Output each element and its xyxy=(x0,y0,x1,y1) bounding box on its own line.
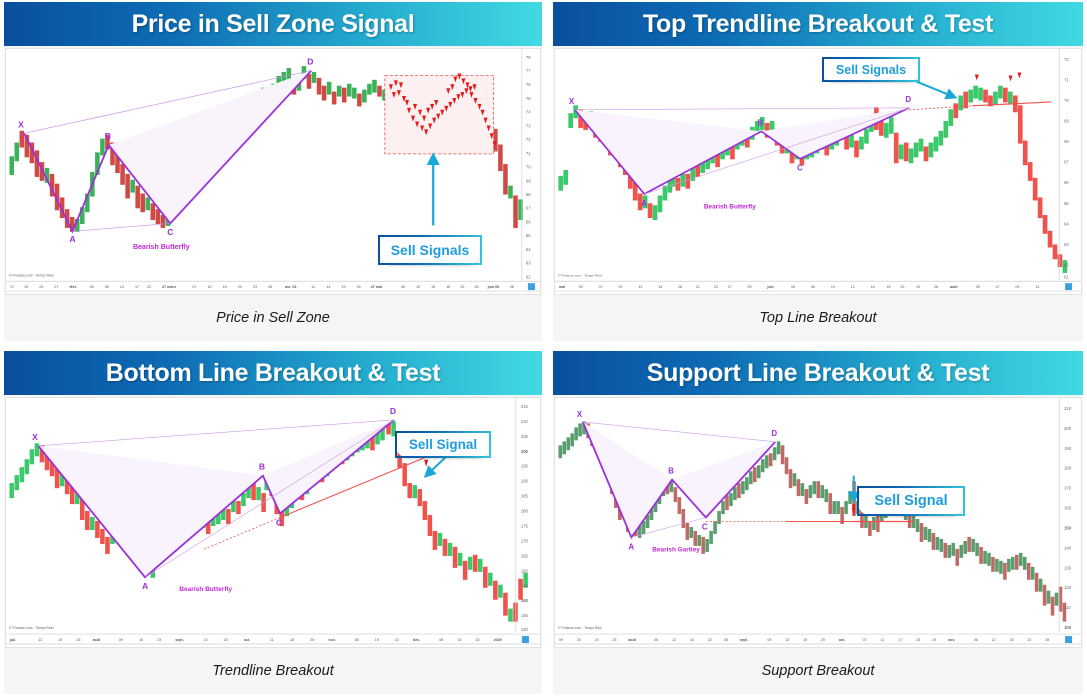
svg-text:09: 09 xyxy=(767,638,771,642)
svg-text:160: 160 xyxy=(1064,506,1072,511)
svg-text:195: 195 xyxy=(521,464,529,469)
svg-text:64: 64 xyxy=(526,247,531,252)
svg-text:20: 20 xyxy=(476,638,480,642)
svg-text:180: 180 xyxy=(1064,466,1072,471)
svg-text:24: 24 xyxy=(357,285,361,289)
point-a-label-3: A xyxy=(142,581,148,591)
svg-text:69: 69 xyxy=(1064,119,1069,124)
svg-text:200: 200 xyxy=(521,449,529,454)
attribution-4: IT-Finance.com - Temps Réel xyxy=(558,626,602,630)
svg-text:08: 08 xyxy=(105,285,109,289)
pattern-label-2: Bearish Butterfly xyxy=(704,204,756,211)
pattern-label-3: Bearish Butterfly xyxy=(179,586,232,593)
svg-text:210: 210 xyxy=(1064,406,1072,411)
svg-text:oct.: oct. xyxy=(839,638,845,642)
svg-text:19: 19 xyxy=(24,285,28,289)
panel-caption-3: Trendline Breakout xyxy=(4,648,542,694)
svg-text:déc.: déc. xyxy=(413,638,420,642)
point-a-label-1: A xyxy=(69,234,75,244)
svg-text:74: 74 xyxy=(526,110,531,115)
svg-text:11: 11 xyxy=(881,638,885,642)
svg-text:19: 19 xyxy=(803,638,807,642)
attribution-2: IT-Finance.com - Temps Réel xyxy=(558,273,602,277)
svg-text:18: 18 xyxy=(678,285,682,289)
svg-text:05: 05 xyxy=(401,285,405,289)
x-axis-4: 09151925 août0612 162228 sept.0913 1925o… xyxy=(555,634,1081,644)
point-c-label-3: C xyxy=(276,518,282,528)
svg-text:07: 07 xyxy=(599,285,603,289)
svg-text:05: 05 xyxy=(90,285,94,289)
svg-text:07: 07 xyxy=(996,285,1000,289)
svg-text:19: 19 xyxy=(595,638,599,642)
point-d-label-4: D xyxy=(771,429,777,438)
chart-svg-2: X A B C D Bearish Butterfly xyxy=(555,49,1081,294)
sell-signal-callout-3[interactable]: Sell Signal xyxy=(395,431,491,458)
sell-signal-arrows-2 xyxy=(975,73,1022,82)
svg-text:16: 16 xyxy=(139,638,143,642)
svg-text:170: 170 xyxy=(1064,486,1072,491)
svg-text:08: 08 xyxy=(355,638,359,642)
panel-title-3: Bottom Line Breakout & Test xyxy=(4,351,542,395)
point-c-label-1: C xyxy=(167,227,173,237)
svg-text:26: 26 xyxy=(934,285,938,289)
svg-text:23: 23 xyxy=(460,285,464,289)
panel-caption-1: Price in Sell Zone xyxy=(4,295,542,341)
chart-top-trendline-breakout[interactable]: X A B C D Bearish Butterfly xyxy=(554,48,1082,295)
axis-marker-3[interactable] xyxy=(522,636,529,643)
svg-text:68: 68 xyxy=(526,192,531,197)
point-x-label-3: X xyxy=(32,432,38,442)
panel-title-1: Price in Sell Zone Signal xyxy=(4,2,542,46)
svg-text:72: 72 xyxy=(1064,57,1069,62)
svg-text:août: août xyxy=(93,638,101,642)
svg-text:62: 62 xyxy=(1064,263,1069,268)
svg-text:2025: 2025 xyxy=(494,638,502,642)
svg-text:09: 09 xyxy=(119,638,123,642)
svg-text:165: 165 xyxy=(521,553,529,558)
svg-text:215: 215 xyxy=(521,404,529,409)
svg-text:140: 140 xyxy=(1064,545,1072,550)
svg-text:18: 18 xyxy=(290,638,294,642)
svg-text:76: 76 xyxy=(526,82,531,87)
svg-text:12: 12 xyxy=(851,285,855,289)
svg-text:70: 70 xyxy=(1064,98,1069,103)
svg-text:10: 10 xyxy=(208,285,212,289)
panel-top-trendline-breakout: Top Trendline Breakout & Test xyxy=(553,2,1083,341)
x-axis-3: juil.1219 26août09 1623sept. 1320oct. 11… xyxy=(6,634,540,644)
svg-text:120: 120 xyxy=(1064,585,1072,590)
y-axis-2: 727170 696867 666564 636261 xyxy=(1059,49,1069,280)
svg-text:juin: juin xyxy=(766,285,773,289)
svg-text:75: 75 xyxy=(526,96,531,101)
svg-text:20: 20 xyxy=(238,285,242,289)
svg-text:06: 06 xyxy=(974,638,978,642)
svg-text:22: 22 xyxy=(708,638,712,642)
svg-text:06: 06 xyxy=(811,285,815,289)
chart-price-in-sell-zone[interactable]: X A B C D Bearish Butterfly xyxy=(5,48,541,295)
svg-text:14: 14 xyxy=(326,285,330,289)
panel-grid: Price in Sell Zone Signal xyxy=(0,0,1087,698)
svg-text:sept.: sept. xyxy=(175,638,183,642)
svg-text:28: 28 xyxy=(724,638,728,642)
svg-text:mai: mai xyxy=(559,285,565,289)
svg-text:11: 11 xyxy=(311,285,315,289)
svg-text:16: 16 xyxy=(690,638,694,642)
svg-text:130: 130 xyxy=(1064,565,1072,570)
point-b-label-4: B xyxy=(668,467,674,476)
svg-text:66: 66 xyxy=(526,219,531,224)
svg-text:13: 13 xyxy=(638,285,642,289)
svg-text:200: 200 xyxy=(1064,426,1072,431)
svg-text:16: 16 xyxy=(871,285,875,289)
svg-text:22: 22 xyxy=(1027,638,1031,642)
svg-text:65: 65 xyxy=(526,233,531,238)
point-b-label-1: B xyxy=(105,131,111,141)
svg-text:22: 22 xyxy=(395,638,399,642)
svg-text:27 mai: 27 mai xyxy=(371,285,382,289)
svg-text:nov.: nov. xyxy=(948,638,955,642)
svg-text:210: 210 xyxy=(521,419,529,424)
svg-text:69: 69 xyxy=(526,178,531,183)
panel-title-4: Support Line Breakout & Test xyxy=(553,351,1083,395)
point-d-label-3: D xyxy=(390,406,396,416)
svg-text:67: 67 xyxy=(1064,160,1069,165)
svg-text:17: 17 xyxy=(135,285,139,289)
svg-text:13: 13 xyxy=(203,638,207,642)
y-axis-1: 787776 757473 727170 696867 666564 6362 xyxy=(522,49,531,280)
svg-text:71: 71 xyxy=(1064,77,1069,82)
svg-text:190: 190 xyxy=(1064,446,1072,451)
axis-marker-2[interactable] xyxy=(1065,283,1072,290)
svg-text:70: 70 xyxy=(526,165,531,170)
point-x-label-4: X xyxy=(577,410,583,419)
attribution-3: IT-Finance.com - Temps Réel xyxy=(9,626,54,630)
callout-label-3: Sell Signal xyxy=(409,437,477,452)
svg-text:15: 15 xyxy=(577,638,581,642)
svg-text:13: 13 xyxy=(457,638,461,642)
svg-text:12: 12 xyxy=(38,638,42,642)
svg-text:18: 18 xyxy=(886,285,890,289)
svg-text:29: 29 xyxy=(748,285,752,289)
svg-text:15: 15 xyxy=(658,285,662,289)
point-a-label-4: A xyxy=(628,542,634,551)
sell-signals-callout-2[interactable]: Sell Signals xyxy=(822,57,920,82)
svg-text:août: août xyxy=(628,638,636,642)
svg-text:27: 27 xyxy=(54,285,58,289)
svg-text:29: 29 xyxy=(932,638,936,642)
pattern-label-4: Bearish Gartley xyxy=(652,546,700,553)
sell-signal-callout-4[interactable]: Sell Signal xyxy=(857,486,965,516)
point-d-label-1: D xyxy=(307,57,313,67)
svg-text:06: 06 xyxy=(439,638,443,642)
svg-text:20: 20 xyxy=(900,285,904,289)
svg-text:190: 190 xyxy=(521,479,529,484)
svg-text:10: 10 xyxy=(831,285,835,289)
svg-text:140: 140 xyxy=(521,627,529,632)
svg-text:68: 68 xyxy=(1064,139,1069,144)
svg-text:160: 160 xyxy=(521,568,529,573)
panel-caption-4: Support Breakout xyxy=(553,648,1083,694)
svg-text:11: 11 xyxy=(270,638,274,642)
svg-text:27: 27 xyxy=(728,285,732,289)
svg-text:06: 06 xyxy=(654,638,658,642)
chart-bottom-line-breakout[interactable]: X A B C D Bearish Butterfly xyxy=(5,397,541,648)
svg-text:10: 10 xyxy=(416,285,420,289)
svg-text:25: 25 xyxy=(310,638,314,642)
svg-text:14: 14 xyxy=(120,285,124,289)
svg-text:12: 12 xyxy=(992,638,996,642)
x-axis-2: mai0307 091315 182123 2729juin 040610 12… xyxy=(555,281,1081,291)
svg-text:15: 15 xyxy=(431,285,435,289)
svg-text:23: 23 xyxy=(916,638,920,642)
panel-title-2: Top Trendline Breakout & Test xyxy=(553,2,1083,46)
harmonic-pattern-3: X A B C D Bearish Butterfly xyxy=(32,406,396,593)
axis-marker-1[interactable] xyxy=(528,283,535,290)
point-c-label-4: C xyxy=(702,522,708,531)
svg-text:12: 12 xyxy=(672,638,676,642)
svg-text:09: 09 xyxy=(559,638,563,642)
svg-text:78: 78 xyxy=(526,55,531,60)
svg-text:13: 13 xyxy=(785,638,789,642)
svg-text:18: 18 xyxy=(446,285,450,289)
svg-text:24: 24 xyxy=(916,285,920,289)
svg-text:21: 21 xyxy=(696,285,700,289)
sell-signals-callout-1[interactable]: Sell Signals xyxy=(378,235,482,265)
svg-text:67: 67 xyxy=(526,206,531,211)
svg-text:04: 04 xyxy=(791,285,795,289)
svg-text:09: 09 xyxy=(619,285,623,289)
svg-text:185: 185 xyxy=(521,494,529,499)
point-a-label-2: A xyxy=(641,199,647,208)
svg-text:juin 05: juin 05 xyxy=(487,285,499,289)
svg-text:145: 145 xyxy=(521,613,529,618)
svg-text:26: 26 xyxy=(268,285,272,289)
panel-caption-2: Top Line Breakout xyxy=(553,295,1083,341)
svg-text:20: 20 xyxy=(224,638,228,642)
svg-text:27 mars: 27 mars xyxy=(162,285,176,289)
svg-text:08: 08 xyxy=(510,285,514,289)
svg-text:07: 07 xyxy=(192,285,196,289)
point-d-label-2: D xyxy=(905,95,911,104)
svg-text:15: 15 xyxy=(375,638,379,642)
svg-text:05: 05 xyxy=(976,285,980,289)
svg-text:15: 15 xyxy=(223,285,227,289)
attribution-1: IT-Finance.com - Temps Réel xyxy=(9,273,54,277)
svg-text:23: 23 xyxy=(157,638,161,642)
svg-text:26: 26 xyxy=(77,638,81,642)
point-b-label-2: B xyxy=(757,118,763,127)
x-axis-1: 17192427 févr.0508 141722 27 mars0710 15… xyxy=(6,281,540,291)
svg-text:03: 03 xyxy=(579,285,583,289)
callout-label-2: Sell Signals xyxy=(836,63,906,77)
svg-text:73: 73 xyxy=(526,123,531,128)
svg-text:64: 64 xyxy=(1064,221,1069,226)
svg-text:71: 71 xyxy=(526,151,531,156)
svg-text:oct.: oct. xyxy=(244,638,250,642)
svg-text:avr. 03: avr. 03 xyxy=(285,285,296,289)
svg-text:23: 23 xyxy=(253,285,257,289)
svg-text:205: 205 xyxy=(521,434,529,439)
y-axis-3: 215210205 200195190 185180175 170165160 … xyxy=(516,398,529,633)
point-x-label-2: X xyxy=(569,97,575,106)
sell-signal-arrows-3 xyxy=(424,460,428,467)
svg-text:17: 17 xyxy=(898,638,902,642)
svg-text:77: 77 xyxy=(526,69,531,74)
svg-text:150: 150 xyxy=(1064,525,1072,530)
callout-label-1: Sell Signals xyxy=(391,242,470,258)
svg-text:28: 28 xyxy=(1045,638,1049,642)
svg-text:17: 17 xyxy=(10,285,14,289)
svg-text:63: 63 xyxy=(1064,242,1069,247)
svg-text:juil.: juil. xyxy=(9,638,16,642)
svg-text:févr.: févr. xyxy=(69,285,76,289)
svg-text:18: 18 xyxy=(1010,638,1014,642)
point-c-label-2: C xyxy=(797,164,803,173)
svg-text:66: 66 xyxy=(1064,180,1069,185)
svg-text:170: 170 xyxy=(521,538,529,543)
svg-text:22: 22 xyxy=(147,285,151,289)
panel-price-in-sell-zone: Price in Sell Zone Signal xyxy=(4,2,542,341)
svg-text:août: août xyxy=(950,285,958,289)
svg-text:110: 110 xyxy=(1064,605,1071,610)
point-x-label-1: X xyxy=(18,120,24,130)
svg-text:sept.: sept. xyxy=(740,638,748,642)
chart-svg-4: X A B C D Bearish Gartley xyxy=(555,398,1081,647)
svg-text:155: 155 xyxy=(521,583,529,588)
svg-text:13: 13 xyxy=(1035,285,1039,289)
panel-support-line-breakout: Support Line Breakout & Test xyxy=(553,351,1083,694)
svg-text:19: 19 xyxy=(58,638,62,642)
svg-text:25: 25 xyxy=(613,638,617,642)
svg-text:100: 100 xyxy=(1064,625,1072,630)
svg-text:25: 25 xyxy=(821,638,825,642)
svg-text:61: 61 xyxy=(1064,274,1069,279)
svg-text:63: 63 xyxy=(526,261,531,266)
trendline-2 xyxy=(909,102,1051,110)
svg-text:07: 07 xyxy=(863,638,867,642)
callout-label-4: Sell Signal xyxy=(874,493,947,509)
chart-support-line-breakout[interactable]: X A B C D Bearish Gartley xyxy=(554,397,1082,648)
svg-text:nov.: nov. xyxy=(328,638,335,642)
harmonic-pattern-2: X A B C D Bearish Butterfly xyxy=(569,95,911,211)
svg-text:180: 180 xyxy=(521,509,529,514)
point-b-label-3: B xyxy=(259,462,265,472)
svg-text:24: 24 xyxy=(39,285,43,289)
svg-text:175: 175 xyxy=(521,524,529,529)
svg-text:72: 72 xyxy=(526,137,531,142)
svg-text:26: 26 xyxy=(475,285,479,289)
svg-text:09: 09 xyxy=(1015,285,1019,289)
svg-text:23: 23 xyxy=(714,285,718,289)
svg-text:65: 65 xyxy=(1064,201,1069,206)
axis-marker-4[interactable] xyxy=(1065,636,1072,643)
svg-text:150: 150 xyxy=(521,598,529,603)
panel-bottom-line-breakout: Bottom Line Breakout & Test xyxy=(4,351,542,694)
pattern-label-1: Bearish Butterfly xyxy=(133,244,190,251)
svg-text:62: 62 xyxy=(526,274,531,279)
svg-text:19: 19 xyxy=(342,285,346,289)
